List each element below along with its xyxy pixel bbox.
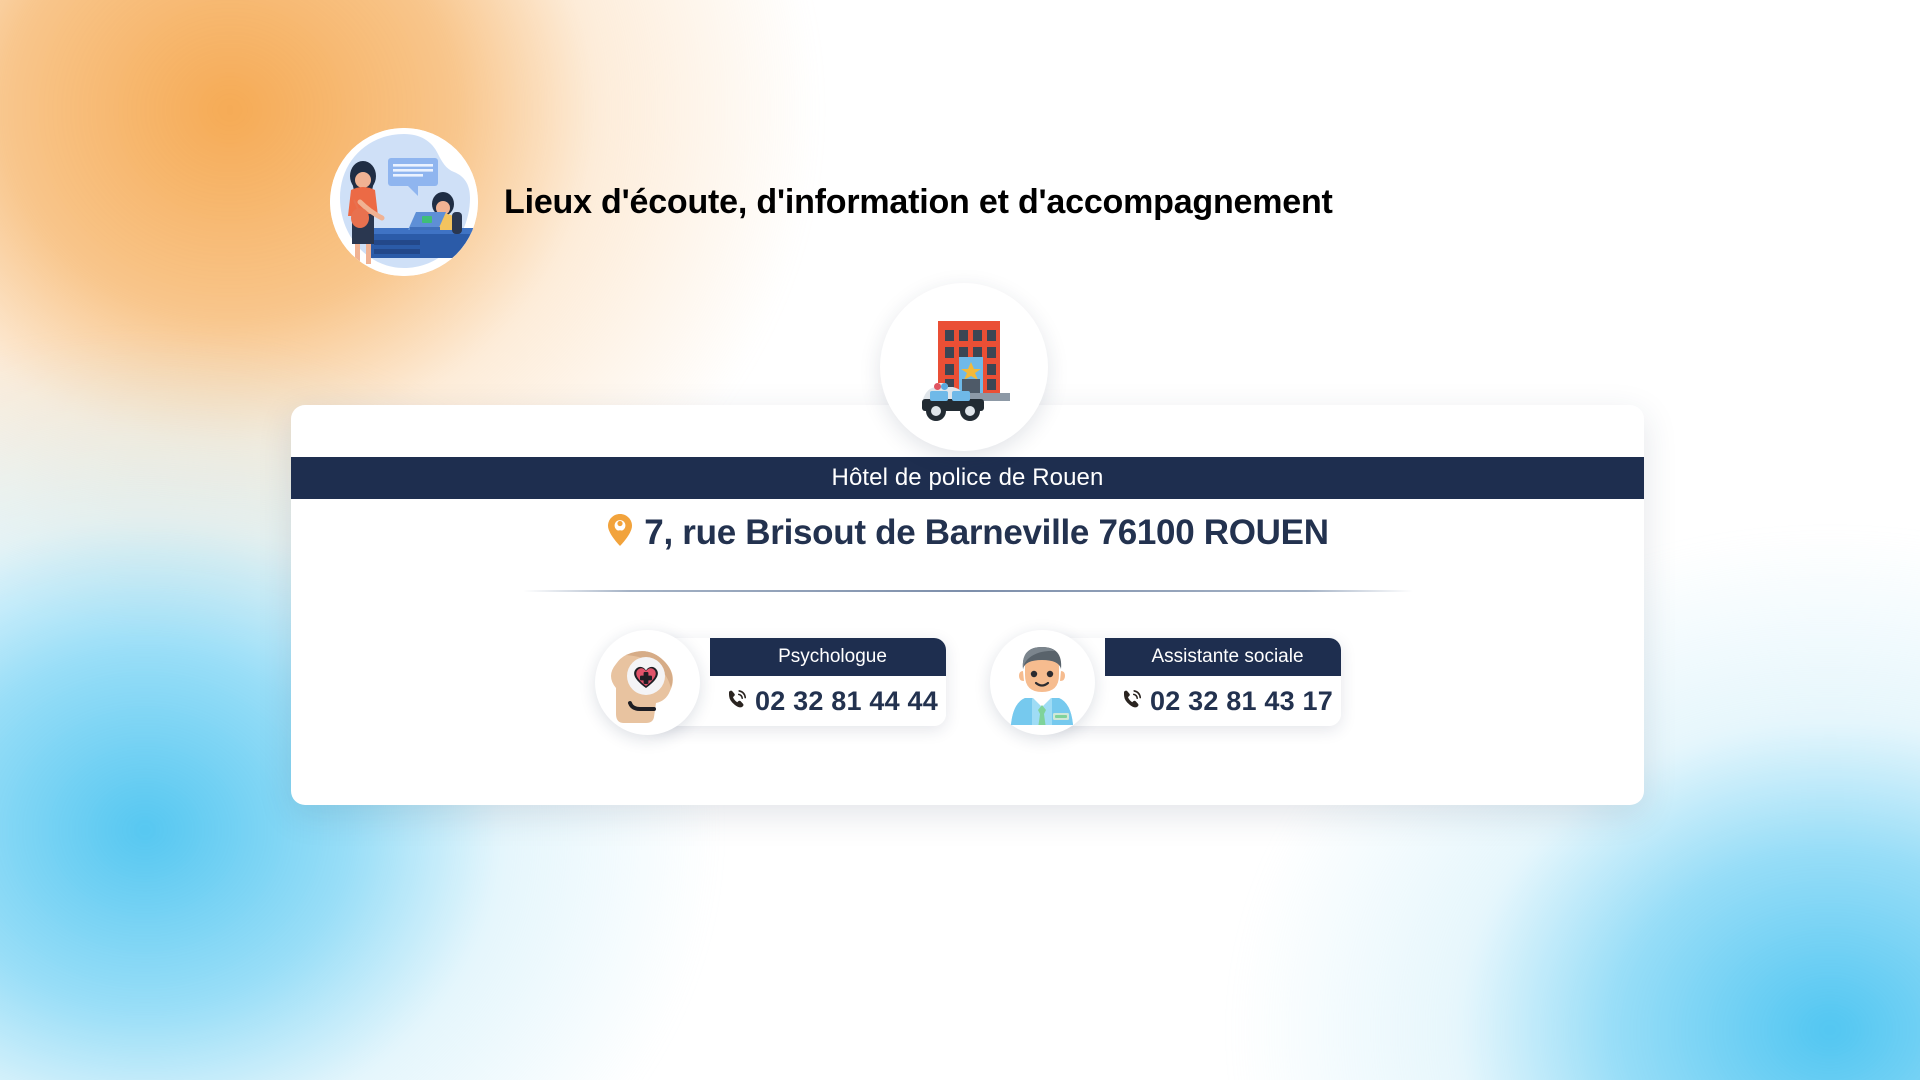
contact-phone-row[interactable]: 02 32 81 44 44	[710, 676, 946, 726]
divider	[523, 590, 1413, 592]
address-row: 7, rue Brisout de Barneville 76100 ROUEN	[291, 513, 1644, 553]
police-station-icon	[880, 283, 1048, 451]
contact-item[interactable]: Assistante sociale 02 32 81 43 17	[990, 627, 1341, 737]
contact-phone-row[interactable]: 02 32 81 43 17	[1105, 676, 1341, 726]
reception-desk-illustration	[330, 128, 478, 276]
place-card: Hôtel de police de Rouen 7, rue Brisout …	[291, 405, 1644, 805]
contacts-list: Psychologue 02 32 81 44 44	[291, 627, 1644, 737]
page-header: Lieux d'écoute, d'information et d'accom…	[330, 128, 1333, 276]
contact-phone: 02 32 81 44 44	[755, 686, 938, 717]
office-worker-icon	[990, 630, 1095, 735]
address-text: 7, rue Brisout de Barneville 76100 ROUEN	[644, 513, 1328, 553]
place-name-bar: Hôtel de police de Rouen	[291, 457, 1644, 499]
place-name: Hôtel de police de Rouen	[832, 464, 1104, 492]
phone-icon	[725, 688, 747, 714]
contact-role: Assistante sociale	[1105, 638, 1341, 676]
contact-item[interactable]: Psychologue 02 32 81 44 44	[595, 627, 946, 737]
phone-icon	[1120, 688, 1142, 714]
page-root: Lieux d'écoute, d'information et d'accom…	[0, 0, 1920, 1080]
map-pin-icon	[606, 513, 634, 553]
contact-role: Psychologue	[710, 638, 946, 676]
contact-phone: 02 32 81 43 17	[1150, 686, 1333, 717]
head-with-heart-icon	[595, 630, 700, 735]
page-title: Lieux d'écoute, d'information et d'accom…	[504, 183, 1333, 222]
